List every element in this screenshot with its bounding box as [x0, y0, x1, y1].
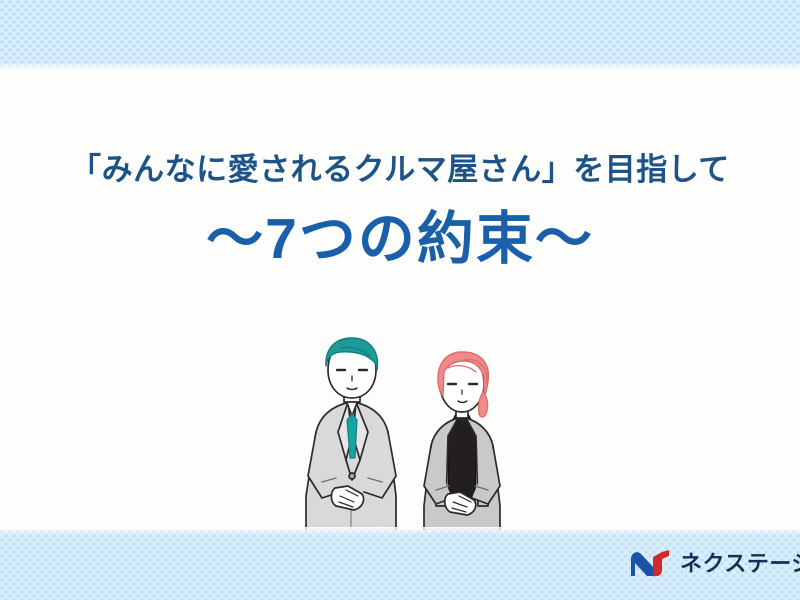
staff-illustration	[288, 336, 532, 536]
headline-line-2: 〜7つの約束〜	[0, 206, 800, 272]
top-dot-band	[0, 0, 800, 69]
promo-banner: 「みんなに愛されるクルマ屋さん」を目指して 〜7つの約束〜	[0, 0, 800, 600]
nextage-n-logo-icon	[629, 550, 671, 578]
headline-line-1: 「みんなに愛されるクルマ屋さん」を目指して	[0, 150, 800, 190]
headline-block: 「みんなに愛されるクルマ屋さん」を目指して 〜7つの約束〜	[0, 150, 800, 272]
logo-wordmark: ネクステージ	[680, 553, 800, 575]
female-staff-figure	[424, 352, 500, 534]
male-staff-figure	[306, 338, 396, 532]
nextage-logo: ネクステージ	[629, 548, 800, 580]
